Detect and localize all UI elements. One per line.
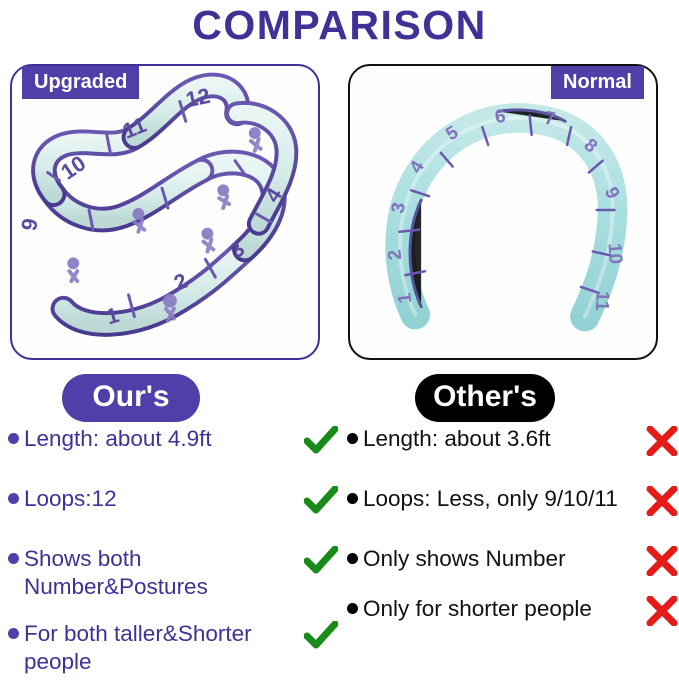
check-icon (304, 621, 338, 651)
bullet-icon (347, 553, 358, 564)
feature-text: Length: about 4.9ft (24, 424, 302, 453)
product-panel-upgraded: 1 2 3 4 9 10 11 12 (10, 64, 320, 360)
bullet-icon (8, 493, 19, 504)
badge-upgraded: Upgraded (22, 66, 139, 99)
feature-item: Length: about 3.6ft (347, 424, 679, 456)
cross-icon (645, 596, 679, 626)
feature-item: Loops: Less, only 9/10/11 (347, 484, 679, 516)
svg-text:11: 11 (592, 291, 614, 312)
bullet-icon (8, 628, 19, 639)
feature-list-others: Length: about 3.6ft Loops: Less, only 9/… (347, 424, 679, 632)
label-ours: Our's (62, 374, 200, 422)
svg-text:1: 1 (393, 292, 415, 305)
feature-text: Only shows Number (363, 544, 643, 573)
feature-item: Only shows Number (347, 544, 679, 576)
label-others: Other's (415, 374, 555, 422)
bullet-icon (8, 553, 19, 564)
bullet-icon (8, 433, 19, 444)
check-icon (304, 546, 338, 576)
feature-item: Length: about 4.9ft (8, 424, 338, 456)
feature-text: Length: about 3.6ft (363, 424, 643, 453)
feature-text: Loops:12 (24, 484, 302, 513)
product-image-upgraded: 1 2 3 4 9 10 11 12 (12, 66, 318, 358)
svg-text:9: 9 (16, 216, 43, 232)
feature-text: Only for shorter people (363, 594, 643, 623)
badge-normal: Normal (551, 66, 644, 99)
feature-item: For both taller&Shorter people (8, 619, 338, 676)
feature-list-ours: Length: about 4.9ft Loops:12 Shows both … (8, 424, 338, 682)
cross-icon (645, 426, 679, 456)
feature-text: For both taller&Shorter people (24, 619, 302, 676)
bullet-icon (347, 603, 358, 614)
feature-text: Loops: Less, only 9/10/11 (363, 484, 643, 513)
check-icon (304, 486, 338, 516)
product-panel-normal: 1 2 3 4 5 6 7 8 9 10 11 (348, 64, 658, 360)
svg-text:10: 10 (605, 242, 627, 264)
product-image-normal: 1 2 3 4 5 6 7 8 9 10 11 (350, 66, 656, 358)
feature-item: Only for shorter people (347, 594, 679, 626)
feature-text: Shows both Number&Postures (24, 544, 302, 601)
check-icon (304, 426, 338, 456)
cross-icon (645, 546, 679, 576)
feature-item: Shows both Number&Postures (8, 544, 338, 601)
svg-text:2: 2 (383, 249, 405, 262)
feature-item: Loops:12 (8, 484, 338, 516)
svg-text:12: 12 (184, 83, 213, 112)
bullet-icon (347, 493, 358, 504)
cross-icon (645, 486, 679, 516)
page-title: COMPARISON (0, 2, 679, 48)
bullet-icon (347, 433, 358, 444)
